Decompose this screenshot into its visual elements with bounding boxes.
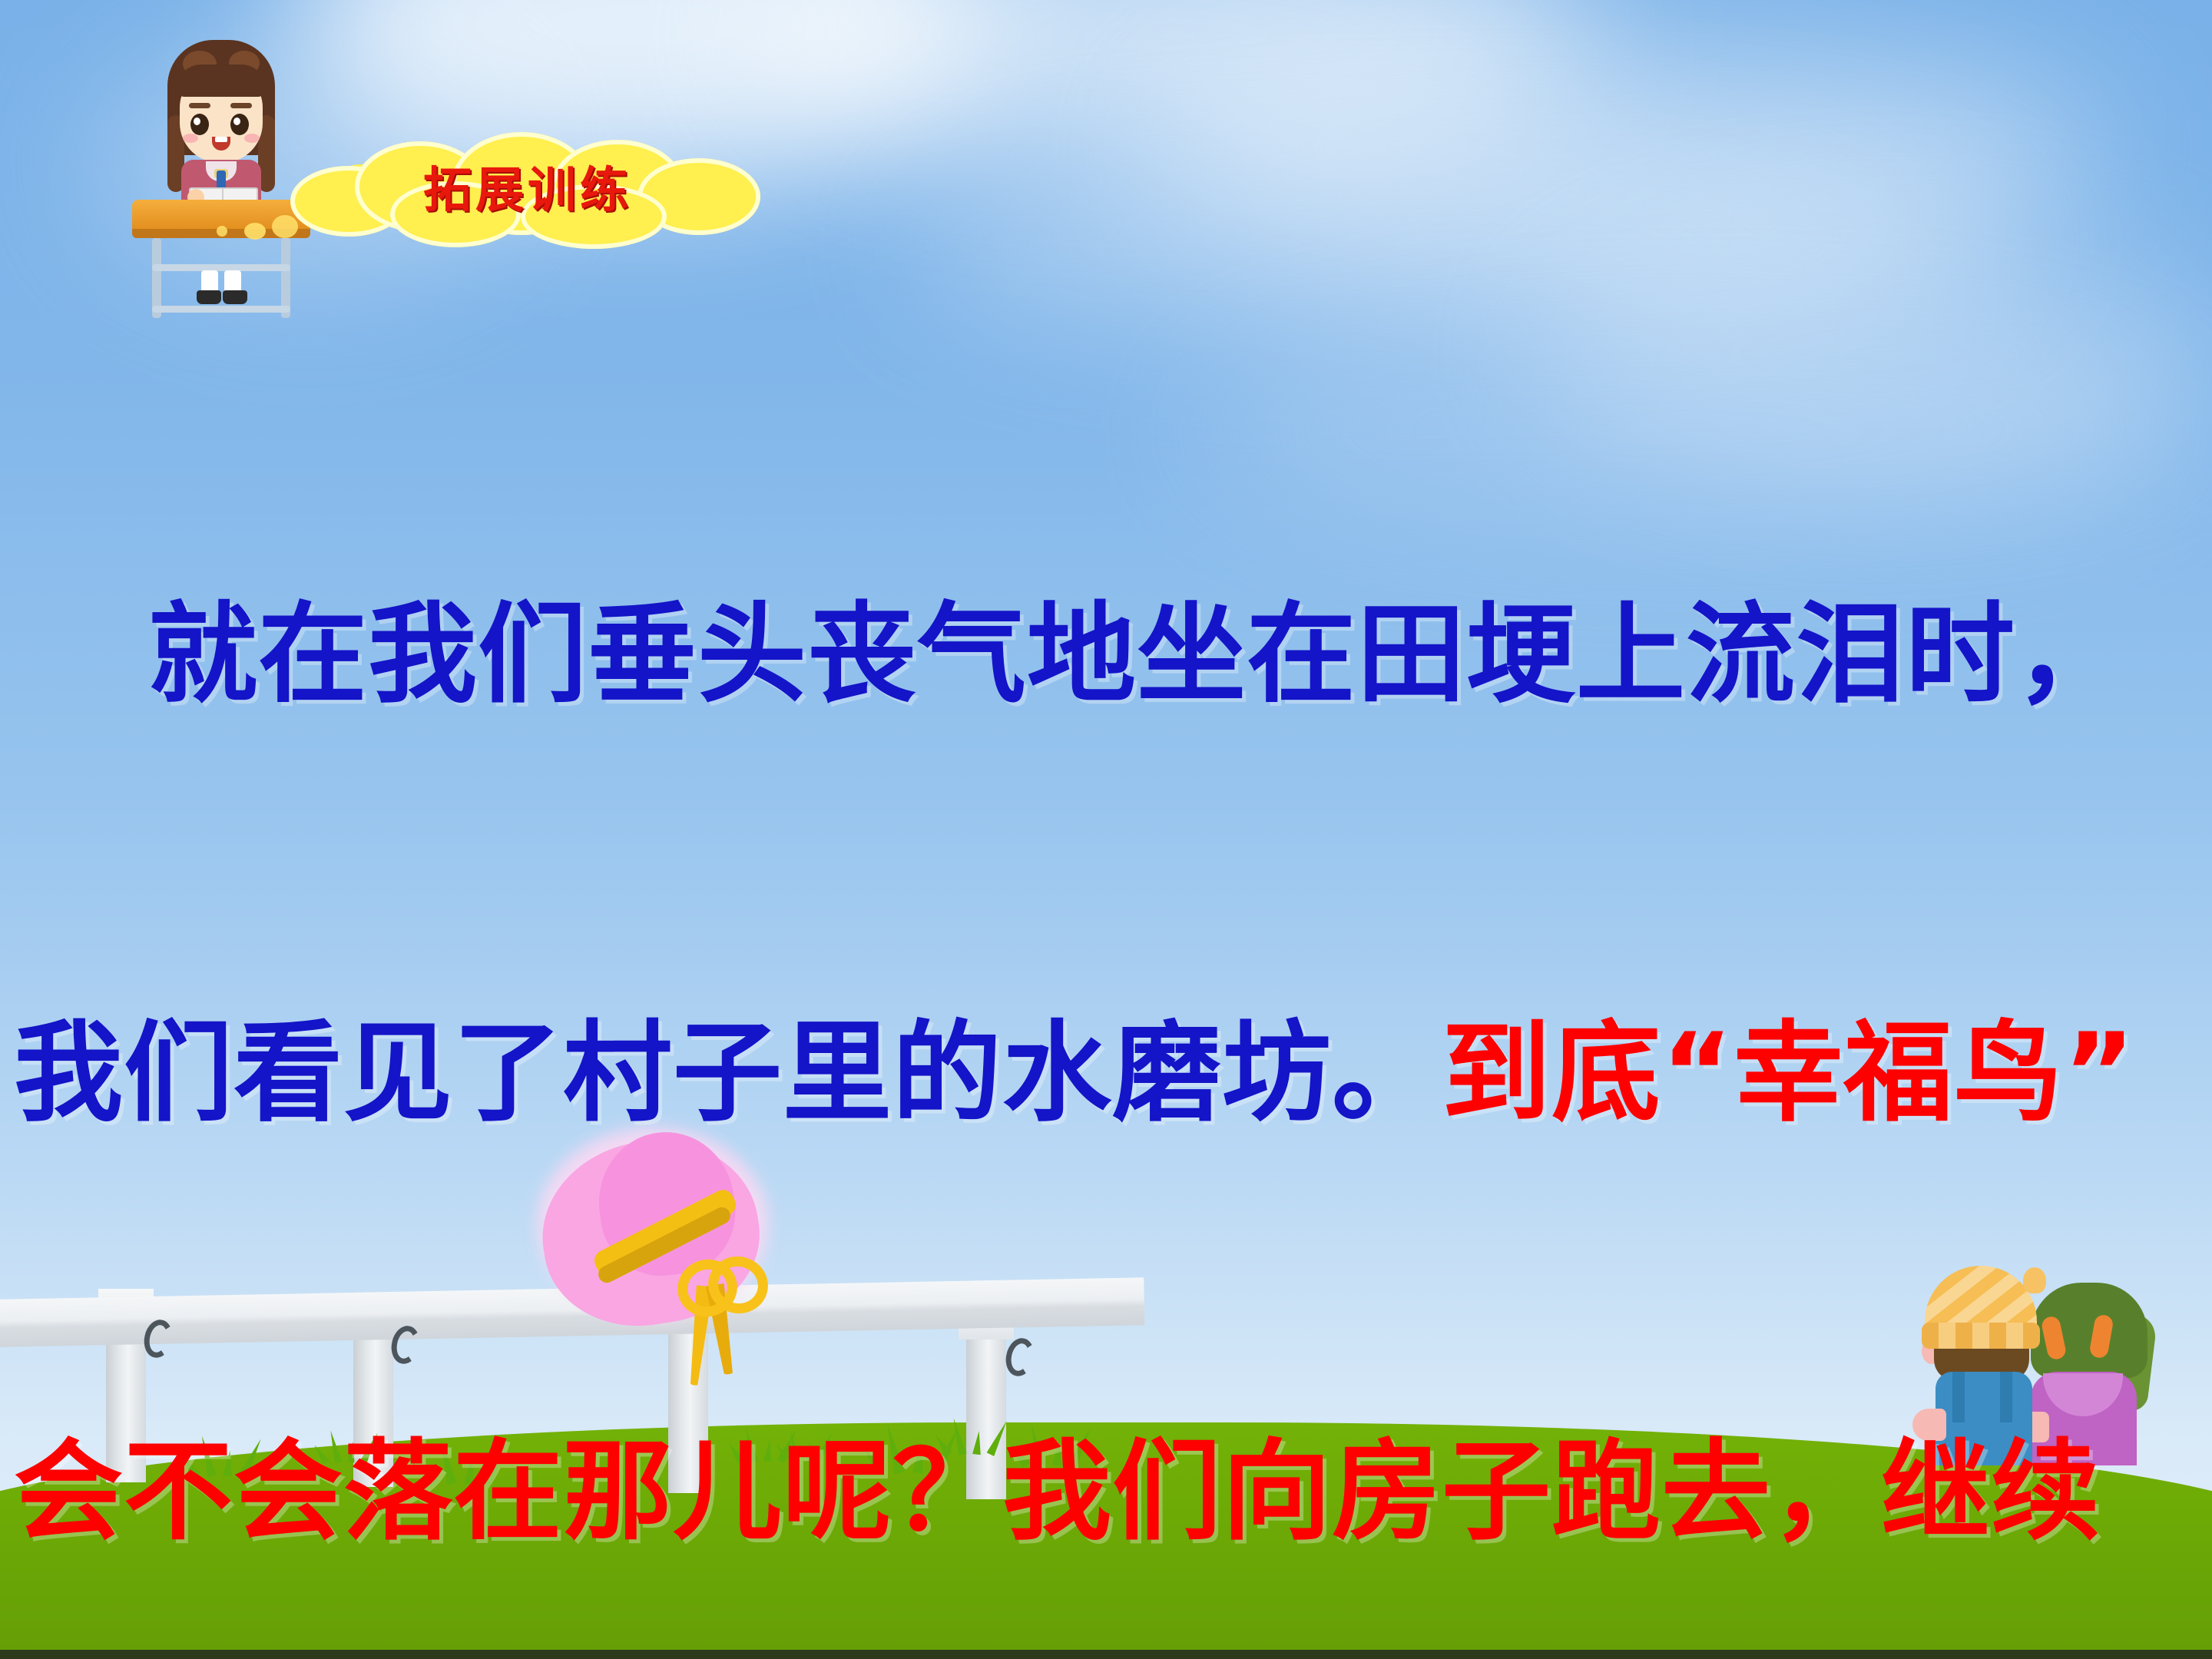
- cloud-wisp-icon: [1152, 31, 2112, 261]
- fringe-icon: [177, 65, 266, 97]
- cheek-left-icon: [183, 134, 198, 143]
- cloud-wisp-icon: [753, 0, 1598, 161]
- shoe-left-icon: [197, 290, 221, 304]
- passage-line-2-blue-part: 我们看见了村子里的水磨坊。: [14, 1010, 1442, 1137]
- slide-canvas: 拓展训练 就在我们垂头丧气地坐在田埂上流泪时， 我们看见了村子里的水磨坊。到底“…: [0, 0, 2212, 1659]
- passage-line-2-red-part: 到底“幸福鸟”: [1442, 1010, 2136, 1137]
- sparkle-icon: [244, 223, 266, 240]
- eyebrow-right-icon: [230, 103, 252, 108]
- passage-line-1: 就在我们垂头丧气地坐在田埂上流泪时，: [14, 585, 2212, 725]
- eyebrow-left-icon: [189, 103, 210, 108]
- section-title-cloud-badge: 拓展训练: [290, 137, 765, 235]
- eye-right-icon: [230, 114, 249, 135]
- passage-line-3: 会不会落在那儿呢？我们向房子跑去，继续: [14, 1422, 2212, 1562]
- sparkle-icon: [217, 226, 227, 237]
- section-title-label: 拓展训练: [290, 137, 765, 235]
- shoe-right-icon: [223, 290, 247, 304]
- student-at-desk-illustration: [132, 17, 310, 318]
- eye-left-icon: [190, 114, 209, 135]
- passage-text-block: 就在我们垂头丧气地坐在田埂上流泪时， 我们看见了村子里的水磨坊。到底“幸福鸟” …: [14, 306, 2212, 1659]
- passage-line-2: 我们看见了村子里的水磨坊。到底“幸福鸟”: [14, 1004, 2212, 1144]
- cheek-right-icon: [244, 134, 260, 143]
